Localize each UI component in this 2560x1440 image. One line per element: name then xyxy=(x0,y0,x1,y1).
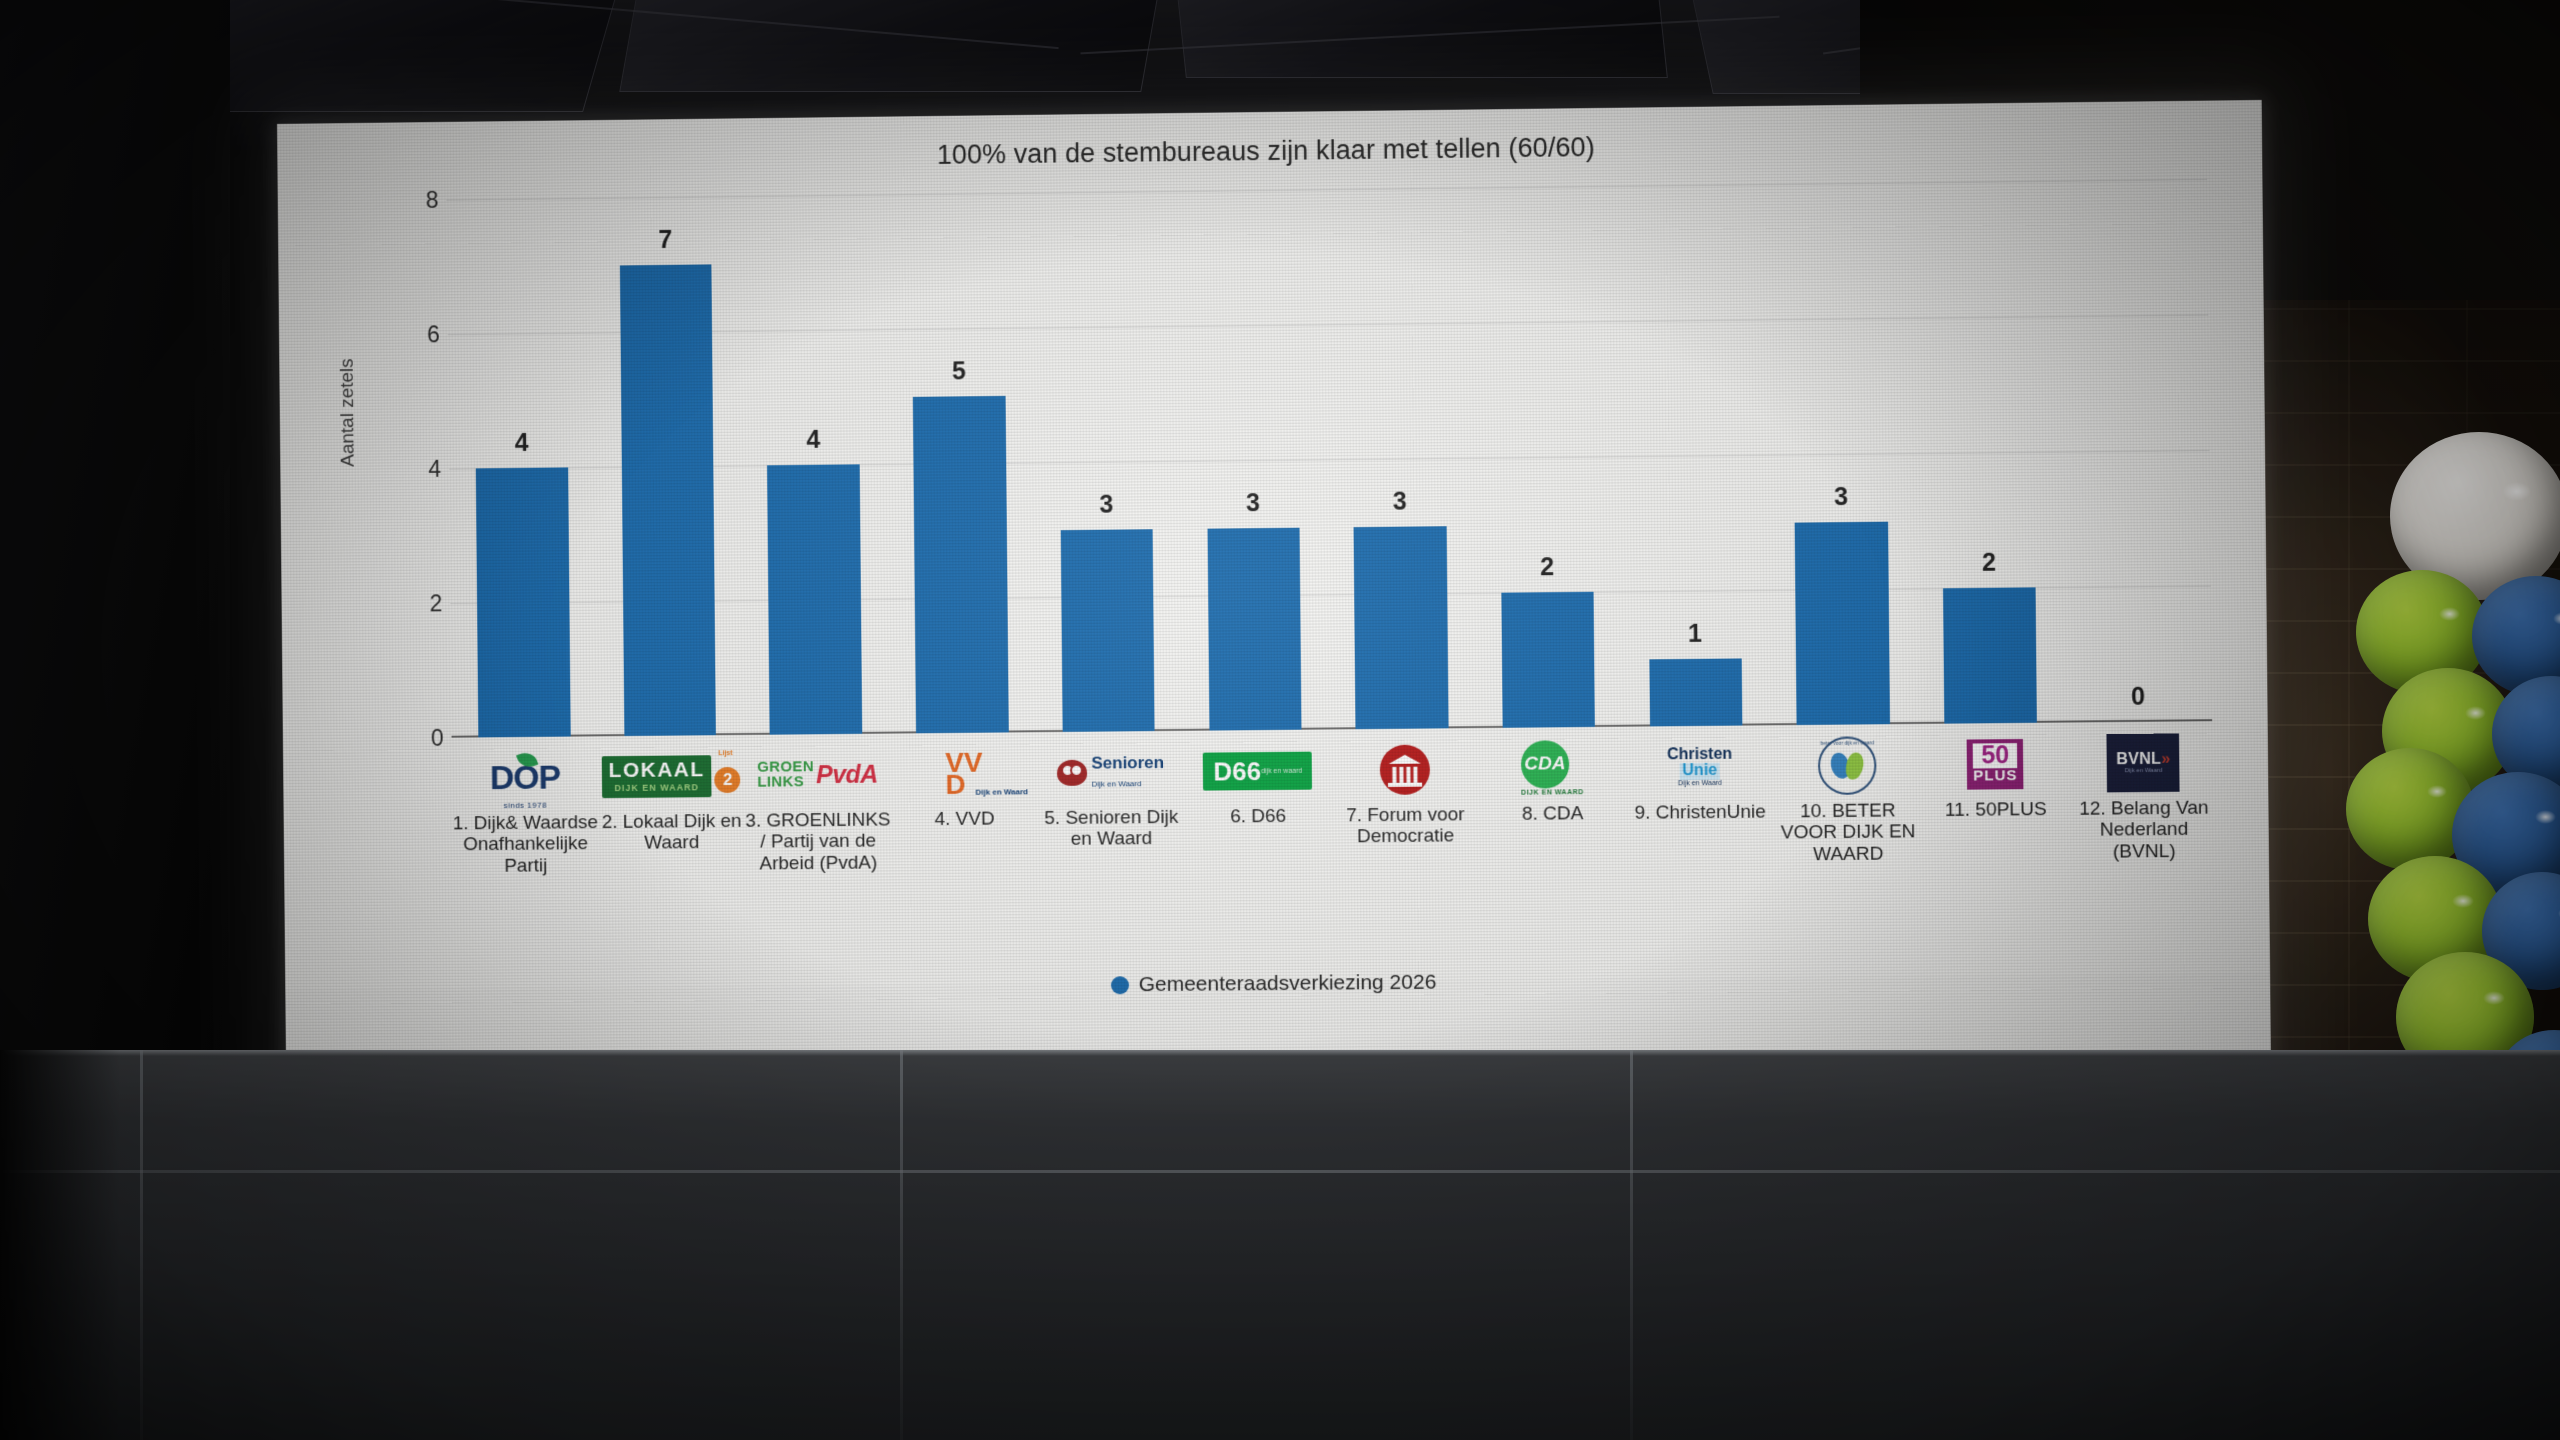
party-logo: CDADIJK EN WAARD xyxy=(1521,737,1584,800)
bar-value-label: 4 xyxy=(515,429,529,458)
stage-table xyxy=(0,1050,2560,1440)
party-logo: ChristenUnieDijk en Waard xyxy=(1667,736,1733,799)
bar[interactable] xyxy=(768,464,863,734)
bar-slot: 1 xyxy=(1617,184,1769,727)
legend-label: Gemeenteraadsverkiezing 2026 xyxy=(1139,971,1437,997)
bar-slot: 4 xyxy=(738,195,889,735)
bar[interactable] xyxy=(1943,587,2037,723)
party-label: 12. Belang Van Nederland (BVNL) xyxy=(2070,797,2219,862)
party-logo: GROENLINKSPvdA xyxy=(757,744,878,807)
party-label: 8. CDA xyxy=(1522,803,1584,825)
ceiling-panel xyxy=(619,0,1163,92)
photo-scene: 100% van de stembureaus zijn klaar met t… xyxy=(0,0,2560,1440)
y-axis-tick-label: 6 xyxy=(408,321,440,348)
bar-slot: 5 xyxy=(884,193,1035,734)
bar-value-label: 1 xyxy=(1688,619,1702,648)
party-label: 6. D66 xyxy=(1230,806,1286,828)
bar-slot: 2 xyxy=(1470,186,1622,728)
table-shadow xyxy=(0,1050,120,1440)
party-axis-entry: SeniorenDijk en Waard5. Senioren Dijk en… xyxy=(1037,741,1186,972)
left-wall xyxy=(0,0,230,1070)
party-axis-entry: LOKAALDIJK EN WAARDLijst22. Lokaal Dijk … xyxy=(598,745,746,976)
lokaal-dijk-en-waard-logo: LOKAALDIJK EN WAARDLijst2 xyxy=(602,755,741,798)
party-label: 3. GROENLINKS / Partij van de Arbeid (Pv… xyxy=(745,809,892,874)
legend-color-swatch xyxy=(1111,976,1129,994)
party-logo: 50PLUS xyxy=(1967,733,2024,796)
party-axis-entry: CDADIJK EN WAARD8. CDA xyxy=(1478,737,1628,969)
table-edge-highlight xyxy=(0,1050,2560,1056)
bar[interactable] xyxy=(1795,521,1890,725)
party-label: 11. 50PLUS xyxy=(1945,799,2047,821)
senioren-dijk-en-waard-logo: SeniorenDijk en Waard xyxy=(1057,753,1164,791)
party-axis-entry: D66dijk en waard6. D66 xyxy=(1184,739,1333,970)
party-logo: SeniorenDijk en Waard xyxy=(1057,741,1164,804)
chart-title: 100% van de stembureaus zijn klaar met t… xyxy=(277,124,2262,179)
groenlinks-pvda-logo: GROENLINKSPvdA xyxy=(757,760,878,790)
bar-slot: 3 xyxy=(1323,188,1475,730)
bar-value-label: 3 xyxy=(1099,490,1113,519)
bar[interactable] xyxy=(476,467,570,737)
bar-value-label: 3 xyxy=(1246,489,1260,518)
party-label: 4. VVD xyxy=(934,809,994,831)
beter-voor-dijk-en-waard-logo: beter voor dijk en waard xyxy=(1818,736,1877,795)
bar-slot: 0 xyxy=(2059,179,2212,723)
party-label: 1. Dijk& Waardse Onafhankelijke Partij xyxy=(452,812,599,877)
party-axis-entry: BVNL»Dijk en Waard12. Belang Van Nederla… xyxy=(2069,731,2219,963)
bar[interactable] xyxy=(1207,527,1301,730)
chart-canvas: 100% van de stembureaus zijn klaar met t… xyxy=(277,100,2270,990)
bar-slot: 3 xyxy=(1030,191,1182,732)
party-label: 10. BETER VOOR DIJK EN WAARD xyxy=(1774,800,1922,865)
party-axis-entry: ChristenUnieDijk en Waard9. ChristenUnie xyxy=(1626,735,1776,967)
table-seam xyxy=(0,1170,2560,1173)
bar[interactable] xyxy=(1354,526,1448,730)
y-axis-tick-label: 0 xyxy=(412,724,444,751)
party-logo: VVDDijk en Waard xyxy=(945,743,983,805)
table-seam xyxy=(1630,1050,1633,1440)
party-label: 7. Forum voor Democratie xyxy=(1332,804,1480,848)
party-logo: DOPsinds 1978 xyxy=(490,747,561,809)
bar-value-label: 2 xyxy=(1540,553,1554,582)
bar-slot: 3 xyxy=(1177,189,1329,730)
bar-value-label: 3 xyxy=(1393,487,1407,516)
table-seam xyxy=(900,1050,903,1440)
bar-slot: 3 xyxy=(1764,182,1917,725)
forum-voor-democratie-logo xyxy=(1380,745,1431,795)
party-label: 9. ChristenUnie xyxy=(1634,802,1766,824)
bvnl-logo: BVNL»Dijk en Waard xyxy=(2107,734,2180,793)
cda-logo: CDADIJK EN WAARD xyxy=(1521,740,1584,797)
party-axis-entry: GROENLINKSPvdA3. GROENLINKS / Partij van… xyxy=(744,744,893,975)
christenunie-logo: ChristenUnieDijk en Waard xyxy=(1667,746,1733,788)
bar-value-label: 0 xyxy=(2131,683,2145,712)
party-axis-entry: 7. Forum voor Democratie xyxy=(1331,738,1480,969)
party-logo: BVNL»Dijk en Waard xyxy=(2107,732,2180,795)
dop-logo: DOPsinds 1978 xyxy=(490,758,561,798)
table-seam xyxy=(140,1050,143,1440)
party-axis-entry: VVDDijk en Waard4. VVD xyxy=(890,742,1039,973)
party-label: 5. Senioren Dijk en Waard xyxy=(1038,807,1185,851)
y-axis-tick-label: 4 xyxy=(409,455,441,482)
party-axis-entry: DOPsinds 19781. Dijk& Waardse Onafhankel… xyxy=(452,746,600,977)
bar[interactable] xyxy=(620,264,716,736)
ceiling-panel xyxy=(1174,0,1668,78)
bar[interactable] xyxy=(1501,592,1595,728)
party-logo: LOKAALDIJK EN WAARDLijst2 xyxy=(601,745,740,808)
bar-value-label: 5 xyxy=(952,357,966,386)
plot-area: 02468 474533321320 xyxy=(407,179,2212,738)
party-axis-entry: 50PLUS11. 50PLUS xyxy=(1921,733,2071,965)
bar[interactable] xyxy=(913,395,1008,733)
bar-slot: 4 xyxy=(446,198,597,738)
party-logo: beter voor dijk en waard xyxy=(1818,734,1877,797)
bar-series: 474533321320 xyxy=(446,179,2212,738)
y-axis-tick-label: 2 xyxy=(410,590,442,617)
party-label: 2. Lokaal Dijk en Waard xyxy=(598,811,745,855)
bar-value-label: 2 xyxy=(1982,549,1996,578)
vvd-logo: VVDDijk en Waard xyxy=(945,751,983,796)
bar-value-label: 3 xyxy=(1834,482,1848,511)
x-axis-party-labels: DOPsinds 19781. Dijk& Waardse Onafhankel… xyxy=(452,731,2220,977)
y-axis-tick-label: 8 xyxy=(407,186,439,213)
bar-slot: 7 xyxy=(592,196,743,736)
bar[interactable] xyxy=(1649,658,1742,727)
owl-icon xyxy=(1057,760,1087,786)
party-logo xyxy=(1380,739,1431,801)
party-axis-entry: beter voor dijk en waard10. BETER VOOR D… xyxy=(1773,734,1923,966)
50plus-logo: 50PLUS xyxy=(1967,739,2024,789)
d66-logo: D66dijk en waard xyxy=(1203,752,1312,791)
bar-value-label: 4 xyxy=(806,426,820,455)
bar[interactable] xyxy=(1061,529,1155,732)
y-axis-title: Aantal zetels xyxy=(337,358,360,467)
bar-slot: 2 xyxy=(1912,181,2065,724)
party-logo: D66dijk en waard xyxy=(1203,740,1313,803)
bar-value-label: 7 xyxy=(658,225,672,254)
bar[interactable] xyxy=(2092,721,2185,722)
